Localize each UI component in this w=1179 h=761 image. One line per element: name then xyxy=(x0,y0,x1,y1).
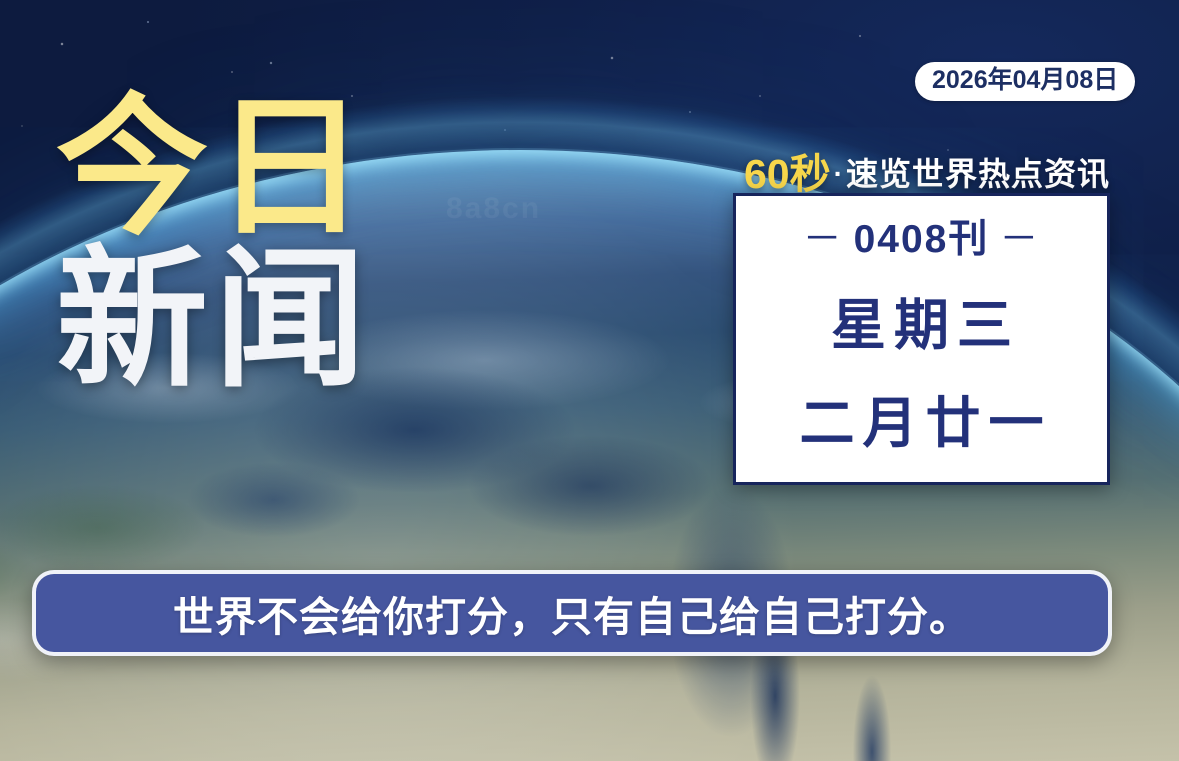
quote-text: 世界不会给你打分，只有自己给自己打分。 xyxy=(173,583,971,643)
issue-info-card: －0408刊－ 星期三 二月廿一 xyxy=(733,193,1110,485)
tagline-rest: 速览世界热点资讯 xyxy=(846,156,1110,192)
lunar-date-label: 二月廿一 xyxy=(791,378,1051,458)
page-title-line-2: 新闻 xyxy=(56,248,372,394)
date-pill-text: 2026年04月08日 xyxy=(932,66,1118,94)
issue-dash-right: － xyxy=(989,218,1050,261)
page-title: 今日 新闻 xyxy=(56,96,372,394)
page-title-line-1: 今日 xyxy=(56,96,372,242)
news-poster: 8a8cn 2026年04月08日 今日 新闻 60秒·速览世界热点资讯 －04… xyxy=(0,0,1179,761)
tagline-seconds: 60秒 xyxy=(744,151,831,197)
date-pill: 2026年04月08日 xyxy=(915,62,1135,101)
tagline: 60秒·速览世界热点资讯 xyxy=(744,140,1110,200)
quote-bar: 世界不会给你打分，只有自己给自己打分。 xyxy=(32,570,1112,656)
weekday-label: 星期三 xyxy=(823,280,1020,360)
issue-number: 0408刊 xyxy=(854,218,990,261)
issue-dash-left: － xyxy=(793,218,854,261)
issue-number-row: －0408刊－ xyxy=(793,208,1051,264)
tagline-separator: · xyxy=(831,158,846,189)
